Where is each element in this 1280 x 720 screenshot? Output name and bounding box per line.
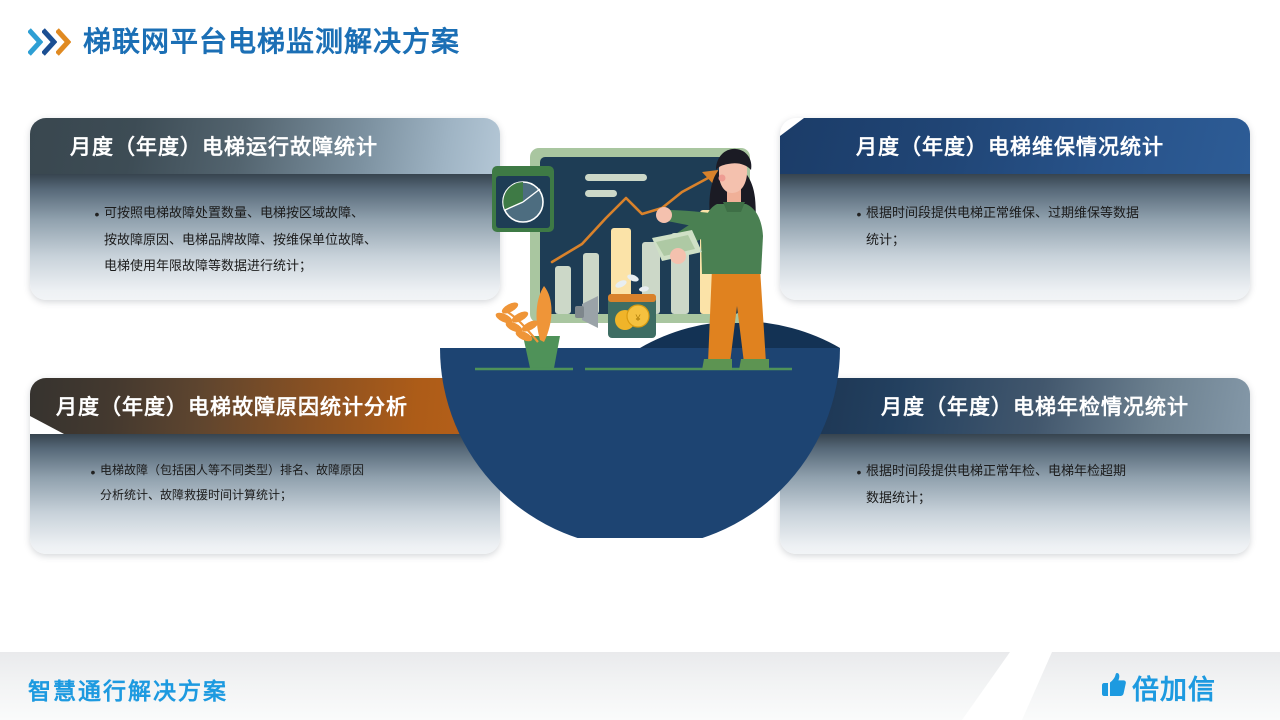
brand-logo[interactable]: 倍加信	[1098, 668, 1216, 707]
pedestal-semicircle	[440, 321, 840, 538]
bullet-marker: •	[852, 200, 866, 229]
chevron-right-icon-1	[28, 28, 41, 56]
slide-root: 梯联网平台电梯监测解决方案 月度（年度）电梯运行故障统计 • 可按照电梯故障处置…	[0, 0, 1280, 720]
card-elevator-maintenance-statistics[interactable]: 月度（年度）电梯维保情况统计 • 根据时间段提供电梯正常维保、过期维保等数据 统…	[780, 118, 1250, 300]
page-title: 梯联网平台电梯监测解决方案	[28, 28, 460, 56]
analytics-illustration: ¥	[430, 118, 850, 538]
slide-title-text: 梯联网平台电梯监测解决方案	[83, 28, 460, 56]
card-annual-inspection-statistics[interactable]: 月度（年度）电梯年检情况统计 • 根据时间段提供电梯正常年检、电梯年检超期 数据…	[780, 378, 1250, 554]
bullet-marker: •	[90, 200, 104, 229]
card1-bullet-list: • 可按照电梯故障处置数量、电梯按区域故障、 按故障原因、电梯品牌故障、按维保单…	[90, 200, 474, 280]
bullet-text: 电梯故障（包括困人等不同类型）排名、故障原因 分析统计、故障救援时间计算统计；	[100, 458, 364, 507]
card2-bullet-list: • 根据时间段提供电梯正常维保、过期维保等数据 统计；	[852, 200, 1220, 253]
chevron-right-icon-3	[56, 28, 69, 56]
svg-text:¥: ¥	[634, 313, 641, 323]
card1-heading-text: 月度（年度）电梯运行故障统计	[70, 131, 378, 161]
thumbs-up-icon	[1098, 670, 1128, 705]
card4-body: • 根据时间段提供电梯正常年检、电梯年检超期 数据统计；	[780, 434, 1250, 554]
bullet-text: 根据时间段提供电梯正常年检、电梯年检超期 数据统计；	[866, 458, 1126, 511]
card2-body: • 根据时间段提供电梯正常维保、过期维保等数据 统计；	[780, 174, 1250, 300]
card4-heading-text: 月度（年度）电梯年检情况统计	[881, 391, 1189, 421]
card4-header: 月度（年度）电梯年检情况统计	[780, 378, 1250, 434]
bullet-text: 可按照电梯故障处置数量、电梯按区域故障、 按故障原因、电梯品牌故障、按维保单位故…	[104, 200, 377, 280]
bullet-text: 根据时间段提供电梯正常维保、过期维保等数据 统计；	[866, 200, 1139, 253]
brand-name-text: 倍加信	[1132, 668, 1216, 707]
card3-bullet-list: • 电梯故障（包括困人等不同类型）排名、故障原因 分析统计、故障救援时间计算统计…	[86, 458, 478, 507]
card2-heading-text: 月度（年度）电梯维保情况统计	[856, 131, 1164, 161]
bullet-marker: •	[86, 458, 100, 487]
card2-header: 月度（年度）电梯维保情况统计	[780, 118, 1250, 174]
card3-heading-text: 月度（年度）电梯故障原因统计分析	[56, 391, 408, 421]
pie-chart-widget	[492, 166, 554, 232]
card4-bullet-list: • 根据时间段提供电梯正常年检、电梯年检超期 数据统计；	[852, 458, 1226, 511]
list-item: • 根据时间段提供电梯正常维保、过期维保等数据 统计；	[852, 200, 1220, 253]
chevron-right-icon-2	[42, 28, 55, 56]
chevron-triple-icon	[28, 28, 69, 56]
bullet-marker: •	[852, 458, 866, 487]
footer-bar: 智慧通行解决方案 倍加信	[0, 652, 1280, 720]
list-item: • 电梯故障（包括困人等不同类型）排名、故障原因 分析统计、故障救援时间计算统计…	[86, 458, 478, 507]
list-item: • 可按照电梯故障处置数量、电梯按区域故障、 按故障原因、电梯品牌故障、按维保单…	[90, 200, 474, 280]
footer-solution-text: 智慧通行解决方案	[28, 672, 228, 706]
list-item: • 根据时间段提供电梯正常年检、电梯年检超期 数据统计；	[852, 458, 1226, 511]
